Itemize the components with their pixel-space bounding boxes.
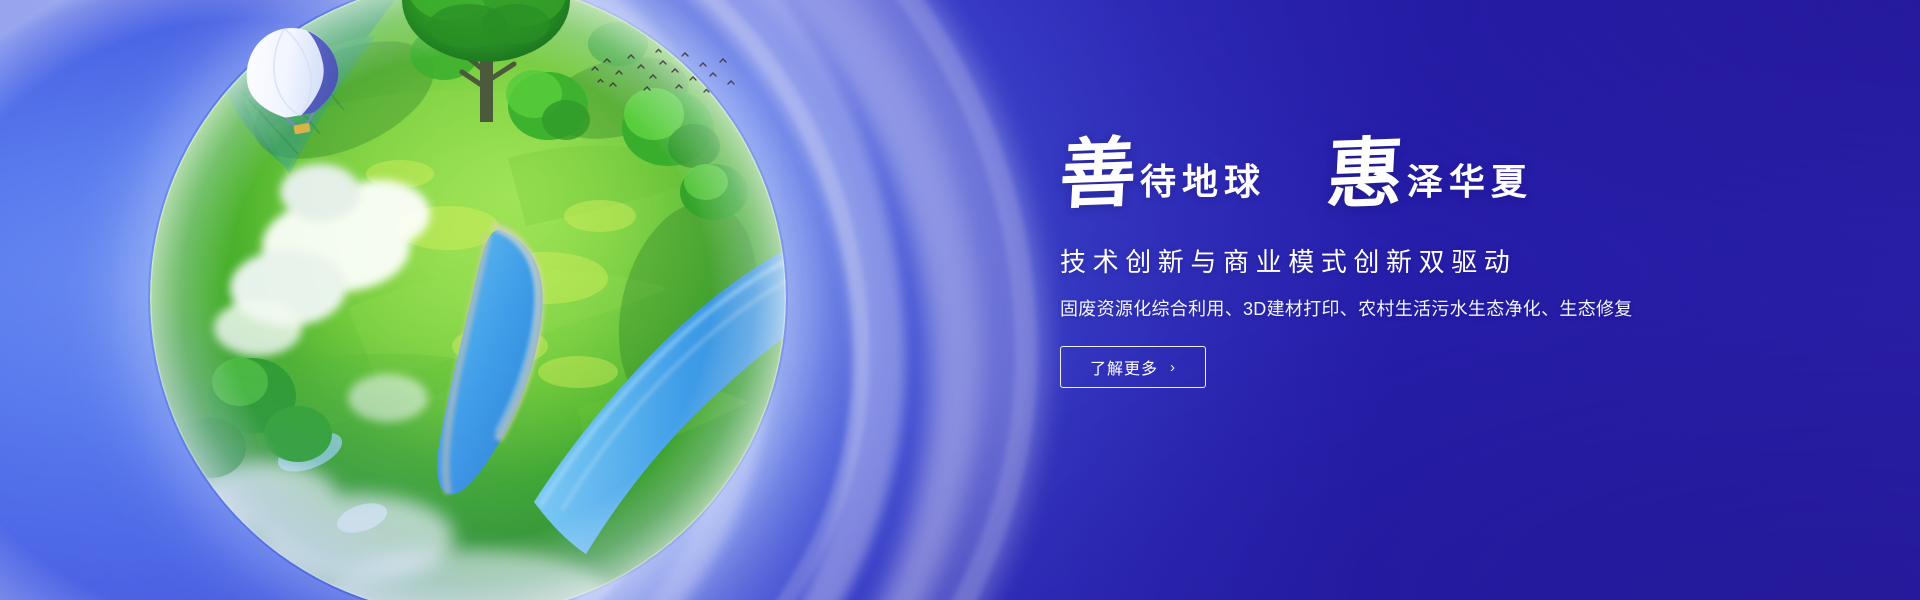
headline-phrase-one: 善待地球 xyxy=(1060,132,1266,216)
headline-char-big-2: 惠 xyxy=(1325,131,1406,218)
headline-char-big-1: 善 xyxy=(1058,131,1139,218)
hero-copy: 善待地球 惠泽华夏 技术创新与商业模式创新双驱动 固废资源化综合利用、3D建材打… xyxy=(1060,132,1680,388)
headline-chars-small-1: 待地球 xyxy=(1140,162,1266,202)
page-title: 善待地球 惠泽华夏 xyxy=(1060,132,1680,228)
hero-banner: 善待地球 惠泽华夏 技术创新与商业模式创新双驱动 固废资源化综合利用、3D建材打… xyxy=(0,0,1920,600)
hero-description: 固废资源化综合利用、3D建材打印、农村生活污水生态净化、生态修复 xyxy=(1060,296,1680,322)
headline-phrase-two: 惠泽华夏 xyxy=(1327,132,1533,216)
learn-more-button[interactable]: 了解更多 › xyxy=(1060,346,1206,388)
learn-more-label: 了解更多 xyxy=(1090,355,1158,379)
headline-chars-small-2: 泽华夏 xyxy=(1407,162,1533,202)
chevron-right-icon: › xyxy=(1170,360,1176,375)
hero-subtitle: 技术创新与商业模式创新双驱动 xyxy=(1060,244,1680,280)
